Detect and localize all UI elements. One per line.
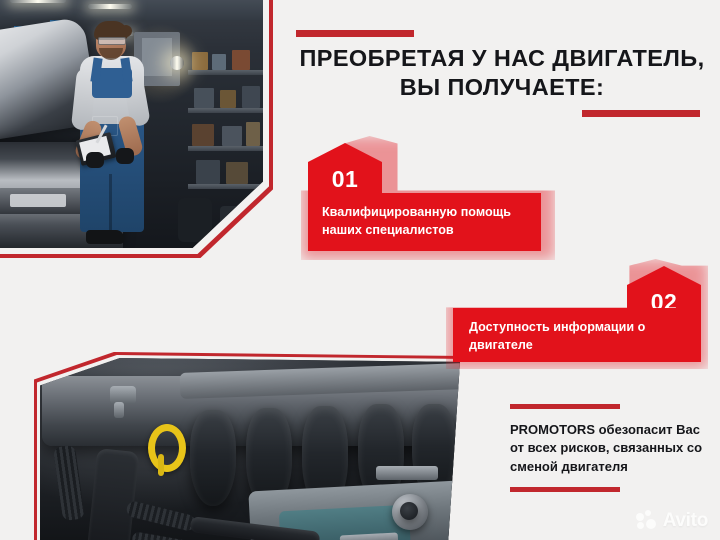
mechanic-inspecting-car-photo (0, 0, 263, 248)
avito-dots-icon (636, 510, 658, 532)
header-rule-bottom (582, 110, 700, 117)
closing-text: PROMOTORS обезопасит Вас от всех рисков,… (510, 421, 710, 476)
engine-closeup-photo (40, 358, 460, 540)
benefit-item-02: 02 Доступность информации о двигателе (453, 266, 701, 362)
benefit-01-text: Квалифицированную помощь наших специалис… (322, 203, 534, 240)
closing-block: PROMOTORS обезопасит Вас от всех рисков,… (510, 404, 710, 492)
avito-watermark: Avito (636, 510, 708, 532)
oil-dipstick-handle (148, 424, 186, 472)
header-rule-top (296, 30, 414, 37)
benefit-02-text: Доступность информации о двигателе (469, 318, 693, 355)
closing-rule-top (510, 404, 620, 409)
page-title: ПРЕОБРЕТАЯ У НАС ДВИГАТЕЛЬ, ВЫ ПОЛУЧАЕТЕ… (296, 44, 708, 102)
benefit-01-number: 01 (308, 143, 382, 199)
mechanic-figure (72, 24, 154, 248)
avito-wordmark: Avito (663, 510, 708, 532)
benefit-item-01: 01 Квалифицированную помощь наших специа… (308, 143, 548, 253)
poster-canvas: ПРЕОБРЕТАЯ У НАС ДВИГАТЕЛЬ, ВЫ ПОЛУЧАЕТЕ… (0, 0, 720, 540)
closing-rule-bottom (510, 487, 620, 492)
